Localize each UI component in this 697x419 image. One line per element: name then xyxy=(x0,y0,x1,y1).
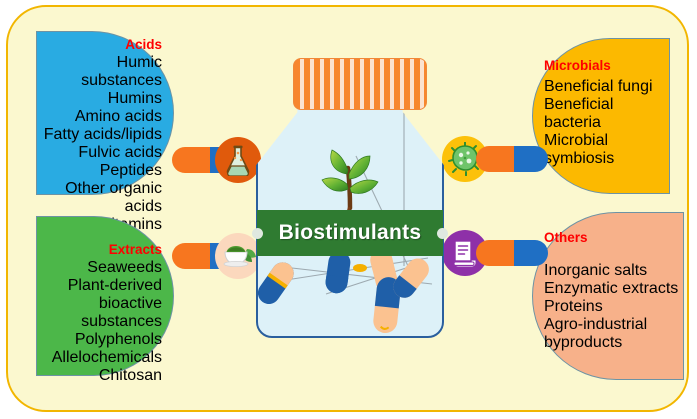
acids-panel-text: Acids Humic substances Humins Amino acid… xyxy=(36,31,174,195)
microbials-item: Beneficial fungi xyxy=(544,78,666,96)
extracts-item: Plant-derived bioactive xyxy=(38,277,162,313)
extracts-item: substances xyxy=(38,313,162,331)
bottle-label-text: Biostimulants xyxy=(279,221,422,245)
bottle-label: Biostimulants xyxy=(257,210,443,256)
acids-title: Acids xyxy=(40,37,162,53)
others-panel-text: Others Inorganic salts Enzymatic extract… xyxy=(532,212,684,380)
microbials-title: Microbials xyxy=(544,58,666,74)
extracts-panel-text: Extracts Seaweeds Plant-derived bioactiv… xyxy=(36,216,174,376)
label-dot-left xyxy=(252,228,263,239)
acids-item: Fatty acids/lipids xyxy=(40,126,162,144)
acids-item: Humic substances xyxy=(40,54,162,90)
extracts-item: Polyphenols xyxy=(38,331,162,349)
others-item: Agro-industrial byproducts xyxy=(544,316,680,352)
microbials-item: Microbial symbiosis xyxy=(544,132,666,168)
connector-microbials-orange-half xyxy=(476,146,514,172)
flask-icon[interactable] xyxy=(215,137,261,183)
acids-item: Humins xyxy=(40,90,162,108)
microbials-item: Beneficial bacteria xyxy=(544,96,666,132)
herb-bowl-icon[interactable] xyxy=(215,233,261,279)
infographic-canvas: Acids Humic substances Humins Amino acid… xyxy=(0,0,697,419)
extracts-item: Allelochemicals xyxy=(38,349,162,367)
category-panel-acids[interactable]: Acids Humic substances Humins Amino acid… xyxy=(36,31,174,195)
connector-microbials-blue-half xyxy=(514,146,548,172)
acids-item: Peptides xyxy=(40,162,162,180)
acids-item: Other organic acids xyxy=(40,180,162,216)
biostimulant-bottle: Biostimulants xyxy=(256,98,444,338)
connector-extracts-orange-half xyxy=(172,243,210,269)
connector-others[interactable] xyxy=(476,240,548,266)
microbials-panel-text: Microbials Beneficial fungi Beneficial b… xyxy=(532,38,670,194)
extracts-item: Chitosan xyxy=(38,367,162,385)
others-item: Proteins xyxy=(544,298,680,316)
extracts-title: Extracts xyxy=(38,242,162,258)
category-panel-others[interactable]: Others Inorganic salts Enzymatic extract… xyxy=(532,212,684,380)
category-panel-microbials[interactable]: Microbials Beneficial fungi Beneficial b… xyxy=(532,38,670,194)
capsule-group xyxy=(256,247,433,335)
label-dot-right xyxy=(437,228,448,239)
others-title: Others xyxy=(544,230,680,246)
extracts-item: Seaweeds xyxy=(38,259,162,277)
connector-acids-orange-half xyxy=(172,147,210,173)
acids-item: Amino acids xyxy=(40,108,162,126)
acids-item: Fulvic acids xyxy=(40,144,162,162)
connector-microbials[interactable] xyxy=(476,146,548,172)
others-item: Inorganic salts xyxy=(544,262,680,280)
connector-others-orange-half xyxy=(476,240,514,266)
others-item: Enzymatic extracts xyxy=(544,280,680,298)
connector-others-blue-half xyxy=(514,240,548,266)
category-panel-extracts[interactable]: Extracts Seaweeds Plant-derived bioactiv… xyxy=(36,216,174,376)
